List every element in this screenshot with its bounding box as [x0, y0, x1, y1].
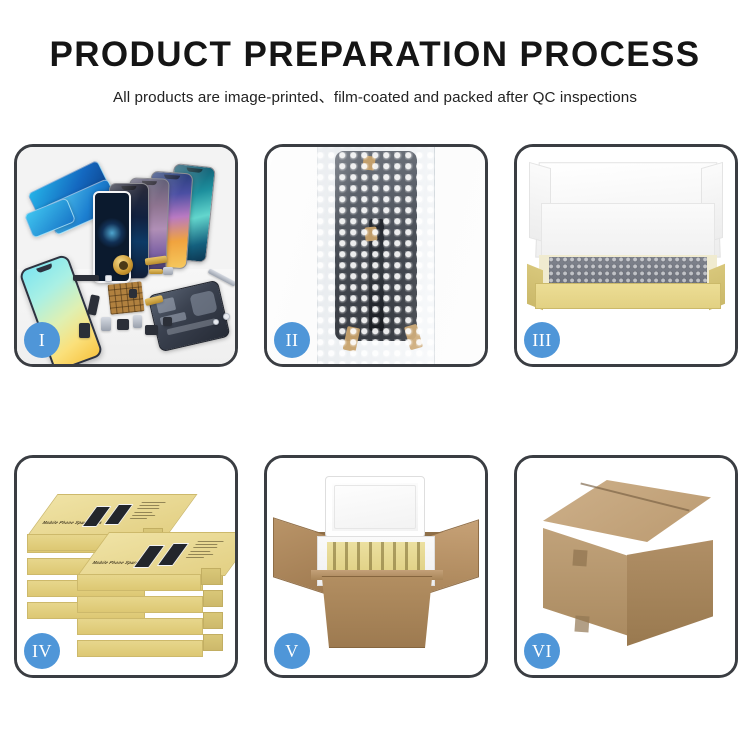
process-step-panel-2[interactable]: II	[264, 144, 488, 367]
carton-tape-icon	[574, 616, 589, 633]
spare-part-icon	[133, 315, 142, 328]
carton-right-face	[627, 540, 713, 646]
page-header: PRODUCT PREPARATION PROCESS All products…	[0, 0, 750, 107]
spare-part-icon	[101, 317, 111, 331]
speaker-coil-icon	[113, 255, 133, 275]
screw-icon	[213, 319, 219, 325]
spare-part-icon	[117, 319, 129, 330]
process-step-panel-5[interactable]: V	[264, 455, 488, 678]
process-step-panel-4[interactable]: Mobile Phone Spare Parts Mobile Phone Sp…	[14, 455, 238, 678]
box-tray-front	[535, 283, 721, 309]
box-inner-wall	[541, 203, 715, 261]
foam-lid-icon	[325, 476, 425, 538]
step-badge-3: III	[524, 322, 560, 358]
carton-top-face	[543, 480, 711, 542]
spare-part-icon	[73, 275, 99, 281]
spare-part-icon	[145, 325, 158, 335]
step-badge-1: I	[24, 322, 60, 358]
step-badge-6: VI	[524, 633, 560, 669]
step-badge-5: V	[274, 633, 310, 669]
carton-front-wall	[317, 576, 437, 648]
circuit-board-icon	[108, 281, 145, 314]
spare-part-icon	[163, 267, 173, 275]
process-step-panel-1[interactable]: I	[14, 144, 238, 367]
process-step-panel-3[interactable]: III	[514, 144, 738, 367]
process-step-panel-6[interactable]: VI	[514, 455, 738, 678]
spare-part-icon	[79, 323, 90, 338]
screw-icon	[223, 313, 230, 320]
carton-tape-icon	[572, 550, 587, 567]
spare-part-icon	[105, 275, 112, 282]
spare-part-icon	[149, 269, 163, 274]
page-title: PRODUCT PREPARATION PROCESS	[0, 36, 750, 75]
spare-part-icon	[163, 317, 172, 326]
step-badge-2: II	[274, 322, 310, 358]
step-badge-4: IV	[24, 633, 60, 669]
spare-part-icon	[129, 289, 137, 298]
process-step-grid: I II III	[14, 144, 738, 678]
page-subtitle: All products are image-printed、film-coat…	[0, 85, 750, 107]
